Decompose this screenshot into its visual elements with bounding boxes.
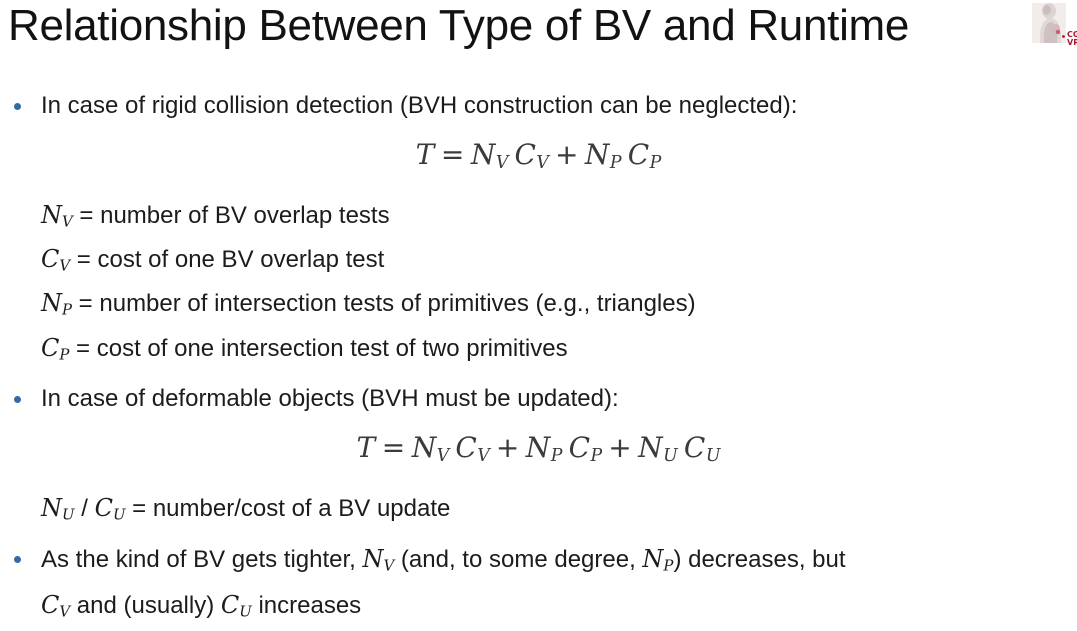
bullet-item-3-continuation: CV and (usually) CU increases: [0, 585, 1077, 631]
bullet-item-2: In case of deformable objects (BVH must …: [0, 379, 1077, 419]
definition-cp-text: = cost of one intersection test of two p…: [69, 335, 567, 362]
definition-cp: CP = cost of one intersection test of tw…: [0, 329, 1077, 373]
bullet-item-1: In case of rigid collision detection (BV…: [0, 86, 1077, 126]
definition-nv-text: = number of BV overlap tests: [73, 202, 390, 229]
formula-deformable-expression: T=NV CV+NP CP+NU CU: [357, 431, 721, 464]
bullet-dot-icon: [14, 556, 21, 563]
svg-text:VR: VR: [1067, 38, 1077, 47]
definition-cv-symbol: CV: [41, 245, 70, 273]
bullet-item-3-symbol-nv: NV: [363, 545, 395, 573]
bullet-item-3-symbol-cv: CV: [41, 591, 70, 619]
definition-np-text: = number of intersection tests of primit…: [72, 290, 696, 317]
slide-body: In case of rigid collision detection (BV…: [0, 86, 1077, 631]
definition-nu-symbol: NU: [41, 494, 75, 522]
definition-cp-symbol: CP: [41, 334, 69, 362]
cgvr-logo-image: CG VR: [1030, 2, 1077, 52]
bullet-item-3-text-part2: (and, to some degree,: [394, 546, 642, 573]
bullet-item-3-symbol-cu: CU: [221, 591, 252, 619]
definition-cv-text: = cost of one BV overlap test: [70, 246, 384, 273]
bullet-item-3-line2-part2: increases: [252, 592, 361, 619]
definition-nv: NV = number of BV overlap tests: [0, 196, 1077, 240]
formula-rigid-expression: T=NV CV+NP CP: [416, 138, 662, 171]
bullet-item-1-label: In case of rigid collision detection (BV…: [41, 92, 797, 119]
definition-nv-symbol: NV: [41, 201, 73, 229]
cgvr-logo: CG VR: [1030, 2, 1077, 52]
bullet-item-3-text-part3: ) decreases, but: [673, 546, 845, 573]
definition-np: NP = number of intersection tests of pri…: [0, 284, 1077, 328]
definition-cv: CV = cost of one BV overlap test: [0, 240, 1077, 284]
bullet-item-3-line2-part1: and (usually): [70, 592, 221, 619]
definition-nu-cu: NU / CU = number/cost of a BV update: [0, 489, 1077, 533]
bullet-item-2-label: In case of deformable objects (BVH must …: [41, 385, 619, 412]
definition-np-symbol: NP: [41, 289, 72, 317]
bullet-item-3-text-part1: As the kind of BV gets tighter,: [41, 546, 363, 573]
bullet-dot-icon: [14, 103, 21, 110]
bullet-item-3: As the kind of BV gets tighter, NV (and,…: [0, 539, 1077, 585]
formula-rigid: T=NV CV+NP CP: [0, 132, 1077, 186]
page-title: Relationship Between Type of BV and Runt…: [8, 0, 909, 54]
bullet-dot-icon: [14, 396, 21, 403]
definition-cu-symbol: CU: [95, 494, 126, 522]
definition-nu-cu-text: = number/cost of a BV update: [125, 495, 450, 522]
formula-deformable: T=NV CV+NP CP+NU CU: [0, 425, 1077, 479]
definition-separator: /: [75, 495, 95, 522]
bullet-item-3-symbol-np: NP: [642, 545, 673, 573]
